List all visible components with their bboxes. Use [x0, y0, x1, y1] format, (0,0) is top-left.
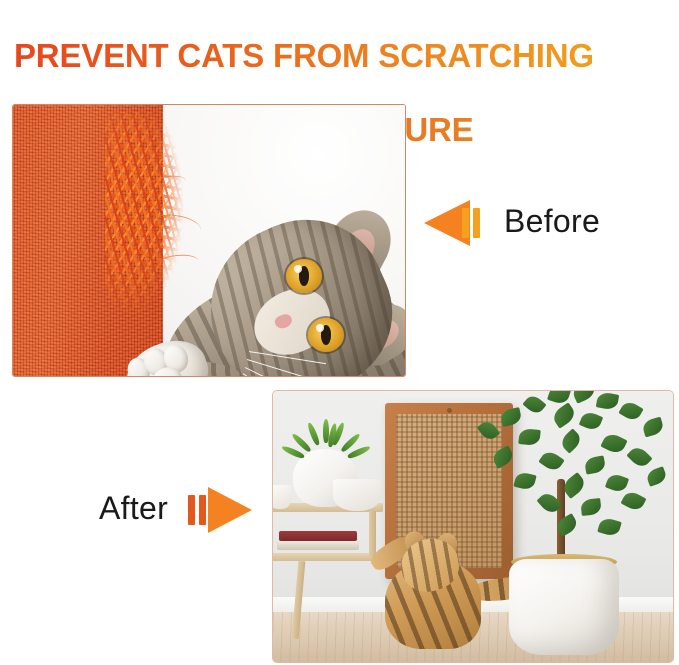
arrow-bar-2 [473, 208, 480, 238]
mounting-screw [447, 408, 452, 413]
tree-planter [509, 559, 619, 655]
arrow-bar-1 [188, 495, 195, 525]
shelf-lower-surface [272, 553, 377, 561]
infographic-canvas: PREVENT CATS FROM SCRATCHING AND DAMAGIN… [0, 0, 679, 665]
after-arrow-icon [188, 487, 252, 533]
succulent-plant [299, 417, 357, 457]
after-label: After [99, 490, 168, 527]
before-cat-eye-lower [308, 318, 344, 352]
arrow-bar-1 [462, 208, 469, 238]
before-cat-eye-upper [286, 259, 322, 293]
book-cream [277, 541, 359, 550]
tree-canopy [457, 390, 674, 551]
small-cup [272, 485, 291, 509]
arrow-right-head [208, 487, 252, 533]
white-bowl [333, 479, 381, 511]
book-red [279, 531, 357, 541]
before-label: Before [504, 203, 600, 240]
headline-line-1: PREVENT CATS FROM SCRATCHING [14, 37, 674, 74]
before-arrow-icon [424, 200, 482, 246]
shelf-leg-side [369, 511, 376, 557]
arrow-bar-2 [199, 495, 206, 525]
after-photo [272, 390, 674, 663]
before-photo [12, 104, 406, 377]
